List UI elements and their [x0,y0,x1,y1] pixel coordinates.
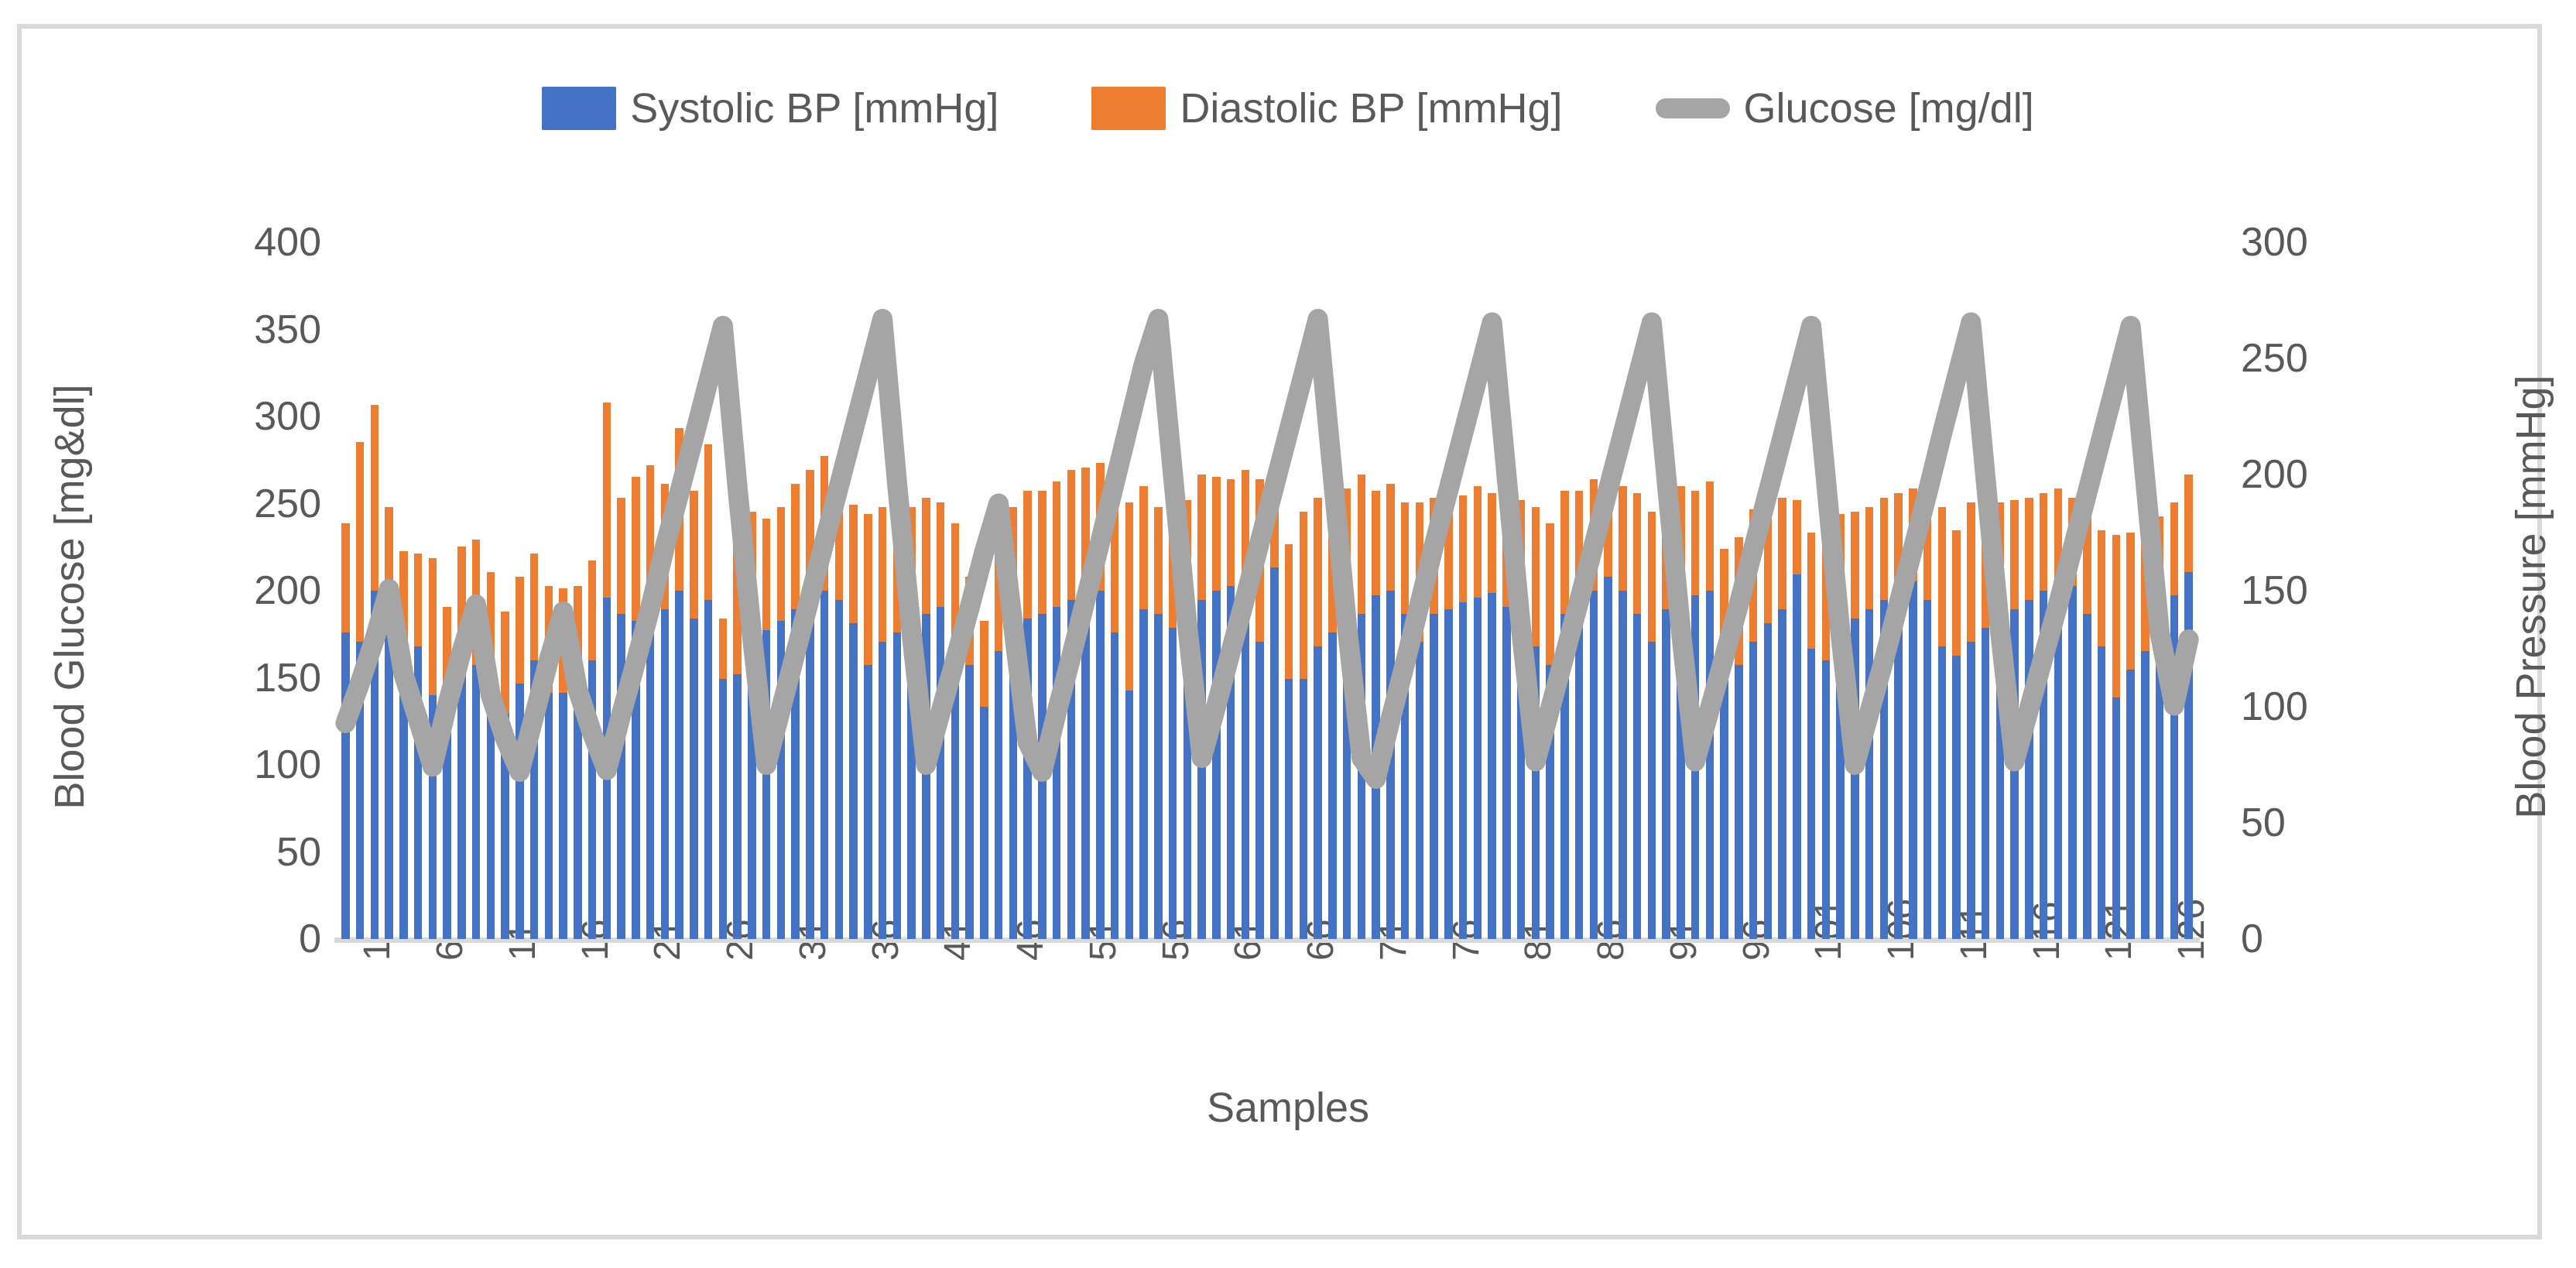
y-tick-left-100: 100 [190,745,321,785]
legend-swatch-diastolic-icon [1091,87,1166,130]
y-tick-right-250: 250 [2241,338,2372,379]
legend-swatch-glucose-icon [1656,98,1730,118]
y-axis-title-right: Blood Pressure [mmHg] [2507,326,2555,868]
y-tick-left-300: 300 [190,396,321,437]
x-tick-6: 6 [432,940,469,961]
y-tick-left-400: 400 [190,222,321,262]
y-tick-right-300: 300 [2241,222,2372,262]
x-axis-title: Samples [0,1084,2576,1132]
y-tick-left-150: 150 [190,658,321,698]
y-tick-right-150: 150 [2241,571,2372,611]
glucose-polyline [345,319,2188,779]
y-tick-left-350: 350 [190,310,321,350]
y-tick-right-200: 200 [2241,454,2372,495]
plot-area [338,242,2196,939]
chart-legend: Systolic BP [mmHg] Diastolic BP [mmHg] G… [0,74,2576,143]
y-tick-left-0: 0 [190,919,321,959]
x-tick-1: 1 [359,940,396,961]
legend-item-diastolic: Diastolic BP [mmHg] [1091,87,1562,130]
y-tick-left-200: 200 [190,571,321,611]
y-tick-right-100: 100 [2241,687,2372,727]
y-tick-left-50: 50 [190,832,321,872]
legend-swatch-systolic-icon [542,87,616,130]
glucose-line-series [338,242,2196,939]
chart-figure: Systolic BP [mmHg] Diastolic BP [mmHg] G… [0,0,2576,1268]
y-tick-right-50: 50 [2241,803,2372,843]
legend-label-systolic: Systolic BP [mmHg] [630,87,999,129]
y-tick-left-250: 250 [190,484,321,524]
legend-label-diastolic: Diastolic BP [mmHg] [1180,87,1562,129]
y-axis-title-left: Blood Glucose [mg&dl] [46,326,94,868]
legend-item-systolic: Systolic BP [mmHg] [542,87,999,130]
legend-item-glucose: Glucose [mg/dl] [1656,87,2034,129]
y-tick-right-0: 0 [2241,919,2372,959]
legend-label-glucose: Glucose [mg/dl] [1744,87,2034,129]
